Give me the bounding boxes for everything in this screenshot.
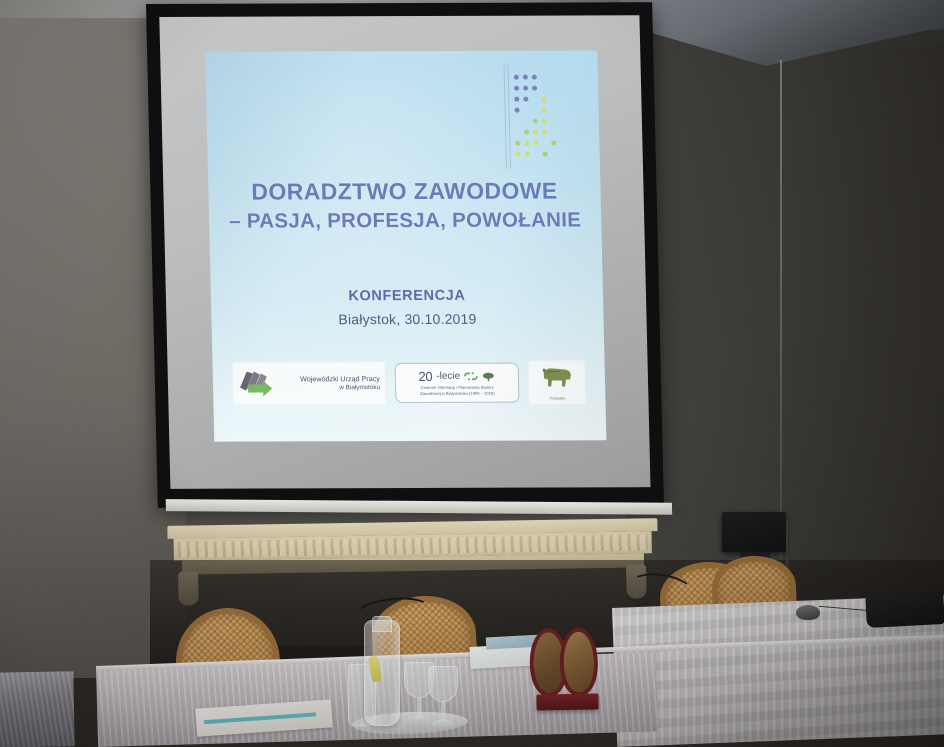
carafe-neck [372, 616, 392, 632]
decoration-dot [533, 130, 538, 135]
decoration-dot [543, 152, 548, 157]
decoration-dot [515, 108, 520, 113]
wup-logo-line2: w Białymstoku [281, 384, 380, 393]
computer-mouse [796, 605, 820, 620]
decoration-dot [523, 86, 528, 91]
slide-title-line2: – PASJA, PROFESJA, POWOŁANIE [209, 207, 602, 235]
link-loop-icon [464, 372, 478, 381]
20-lecie-number: 20 [418, 369, 432, 384]
award-base [536, 693, 598, 710]
presentation-slide: DORADZTWO ZAWODOWE – PASJA, PROFESJA, PO… [205, 50, 606, 441]
decoration-dot [523, 75, 528, 80]
decoration-dot [541, 97, 546, 102]
decoration-line-2 [508, 65, 511, 169]
slide-subtitle-block: KONFERENCJA Białystok, 30.10.2019 [211, 287, 604, 327]
wine-goblet-2 [428, 666, 458, 732]
tree-icon [482, 371, 495, 381]
decoration-dot [533, 141, 538, 146]
paper-accent-stripe [204, 712, 316, 724]
decoration-dot [533, 119, 538, 124]
slide-title-block: DORADZTWO ZAWODOWE – PASJA, PROFESJA, PO… [208, 178, 601, 235]
20-lecie-caption: Centrum Informacji i Planowania Kariery … [420, 385, 495, 397]
wup-logo-text: Wojewódzki Urząd Pracy w Białymstoku [281, 374, 380, 393]
decoration-dot [516, 152, 521, 157]
20-lecie-headline: 20 -lecie [418, 369, 495, 384]
bison-icon [538, 364, 577, 391]
decoration-dot [523, 97, 528, 102]
water-carafe [364, 620, 400, 726]
decoration-dot [532, 86, 537, 91]
far-right-wall [782, 46, 944, 636]
decoration-dot [514, 75, 519, 80]
decoration-dot [551, 141, 556, 146]
20-lecie-logo: 20 -lecie Centrum Informacji i Planowani… [395, 363, 520, 403]
conference-room-photo: DORADZTWO ZAWODOWE – PASJA, PROFESJA, PO… [0, 0, 944, 747]
decoration-dot [532, 75, 537, 80]
decoration-dot [514, 97, 519, 102]
wup-logo-line1: Wojewódzki Urząd Pracy [281, 374, 380, 384]
projection-screen: DORADZTWO ZAWODOWE – PASJA, PROFESJA, PO… [146, 2, 670, 516]
20-lecie-caption-line2: Zawodowej w Białymstoku (1999 – 2019) [420, 391, 495, 397]
20-lecie-suffix: -lecie [436, 371, 460, 382]
wup-mark-icon [238, 367, 277, 399]
decoration-dot [542, 130, 547, 135]
podlaskie-bison-logo: Podlaskie [529, 360, 586, 404]
slide-title-line1: DORADZTWO ZAWODOWE [208, 178, 601, 205]
screen-bottom-bar [166, 499, 673, 515]
decoration-line-1 [504, 65, 507, 169]
slide-subtitle-event: KONFERENCJA [211, 287, 603, 304]
decoration-dot [542, 108, 547, 113]
slide-subtitle-place-date: Białystok, 30.10.2019 [211, 310, 603, 327]
dot-matrix-decoration [502, 64, 578, 168]
decoration-dot [542, 119, 547, 124]
decoration-dot [515, 141, 520, 146]
decoration-dot [524, 141, 529, 146]
bison-logo-caption: Podlaskie [538, 396, 576, 400]
bison-logo-inner: Podlaskie [538, 364, 577, 400]
wojewodzki-urzad-pracy-logo: Wojewódzki Urząd Pracy w Białymstoku [232, 362, 385, 405]
decoration-dot [524, 130, 529, 135]
side-table [0, 671, 75, 747]
monitor [722, 512, 786, 552]
wooden-award [529, 627, 603, 716]
slide-logo-strip: Wojewódzki Urząd Pracy w Białymstoku 20 … [232, 360, 585, 405]
decoration-dot [525, 152, 530, 157]
decoration-dot [514, 86, 519, 91]
award-panel-right [559, 627, 598, 696]
